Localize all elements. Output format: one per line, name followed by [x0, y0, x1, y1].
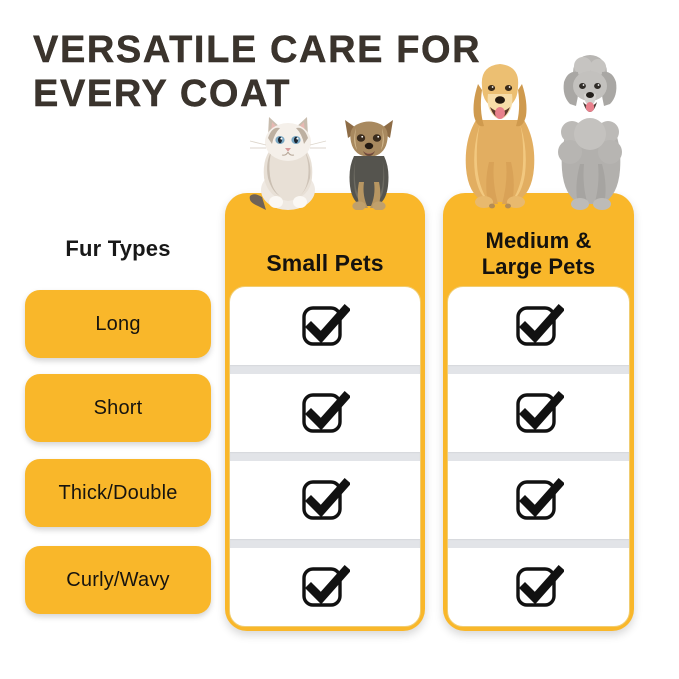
checkbox-checked-icon	[300, 562, 350, 612]
column-header-text: Medium & Large Pets	[482, 228, 596, 280]
fur-type-pill-long: Long	[25, 290, 211, 358]
checkbox-checked-icon	[514, 562, 564, 612]
checklist-medium-large-pets	[447, 286, 630, 627]
page-title: Versatile Care For Every Coat	[33, 28, 463, 116]
row-separator	[230, 452, 420, 461]
checklist-small-pets	[229, 286, 421, 627]
checkbox-checked-icon	[514, 475, 564, 525]
checkbox-checked-icon	[514, 301, 564, 351]
row-separator	[230, 539, 420, 548]
fur-type-pill-thick-double: Thick/Double	[25, 459, 211, 527]
checkbox-checked-icon	[300, 388, 350, 438]
checkbox-checked-icon	[300, 475, 350, 525]
check-cell-large-short	[448, 374, 629, 452]
check-cell-large-curly-wavy	[448, 548, 629, 626]
column-card-small-pets: Small Pets	[225, 193, 425, 631]
column-header-line-2: Large Pets	[482, 254, 596, 279]
fur-type-pill-short: Short	[25, 374, 211, 442]
check-cell-small-short	[230, 374, 420, 452]
fur-types-header: Fur Types	[25, 236, 211, 262]
infographic-page: Versatile Care For Every Coat Fur Types …	[0, 0, 679, 679]
column-header-line-1: Small Pets	[266, 250, 383, 276]
column-header-small-pets: Small Pets	[225, 193, 425, 286]
row-separator	[448, 539, 629, 548]
row-separator	[448, 452, 629, 461]
fur-type-label: Short	[94, 397, 143, 420]
fur-type-label: Long	[95, 313, 140, 336]
fur-type-label: Curly/Wavy	[66, 569, 169, 592]
gray-poodle-dog-icon	[558, 55, 622, 210]
check-cell-large-thick-double	[448, 461, 629, 539]
row-separator	[230, 365, 420, 374]
checkbox-checked-icon	[514, 388, 564, 438]
golden-retriever-dog-icon	[466, 64, 535, 208]
column-card-medium-large-pets: Medium & Large Pets	[443, 193, 634, 631]
column-header-medium-large-pets: Medium & Large Pets	[443, 193, 634, 286]
check-cell-small-curly-wavy	[230, 548, 420, 626]
page-title-line-2: Every Coat	[33, 72, 463, 116]
fur-type-label: Thick/Double	[58, 482, 177, 505]
checkbox-checked-icon	[300, 301, 350, 351]
column-header-text: Small Pets	[266, 250, 383, 276]
column-header-line-1: Medium &	[486, 228, 592, 253]
page-title-line-1: Versatile Care For	[33, 28, 463, 72]
row-separator	[448, 365, 629, 374]
check-cell-large-long	[448, 287, 629, 365]
check-cell-small-long	[230, 287, 420, 365]
check-cell-small-thick-double	[230, 461, 420, 539]
fur-type-pill-curly-wavy: Curly/Wavy	[25, 546, 211, 614]
